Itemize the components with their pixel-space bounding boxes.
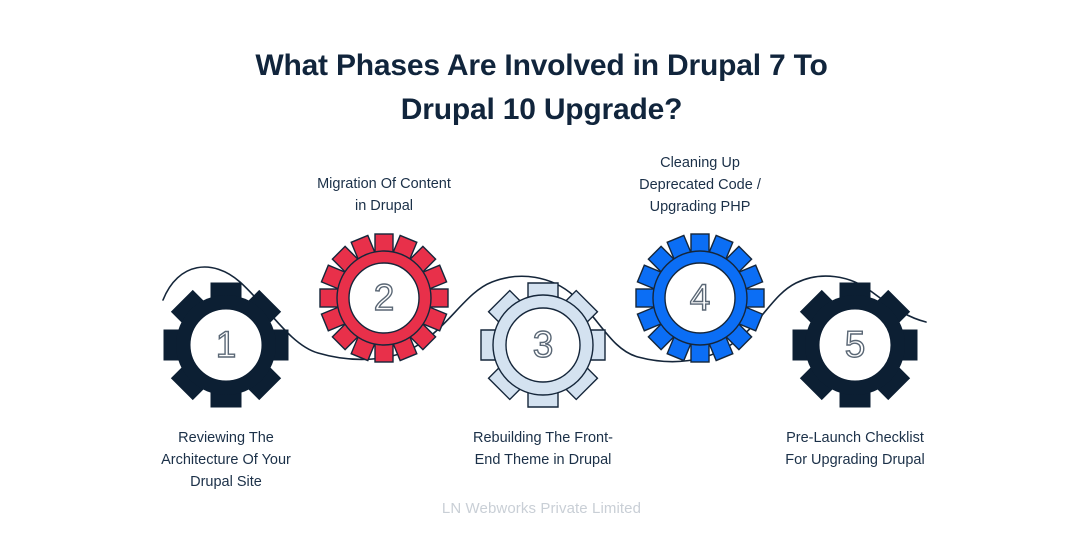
gear-2-number: 2 [319, 233, 449, 363]
infographic-canvas: What Phases Are Involved in Drupal 7 To … [0, 0, 1083, 543]
gear-4-number: 4 [635, 233, 765, 363]
page-title-line-2: Drupal 10 Upgrade? [0, 88, 1083, 132]
page-title: What Phases Are Involved in Drupal 7 To … [0, 44, 1083, 132]
caption-step-1-line-3: Drupal Site [126, 472, 326, 494]
caption-step-2-line-1: Migration Of Content [284, 174, 484, 196]
caption-step-1-line-1: Reviewing The [126, 428, 326, 450]
caption-step-4-line-3: Upgrading PHP [610, 197, 790, 219]
page-title-line-1: What Phases Are Involved in Drupal 7 To [0, 44, 1083, 88]
caption-step-2-line-2: in Drupal [284, 196, 484, 218]
gear-5-number: 5 [791, 281, 919, 409]
caption-step-1-line-2: Architecture Of Your [126, 450, 326, 472]
caption-step-4: Cleaning Up Deprecated Code / Upgrading … [610, 153, 790, 218]
gear-step-3[interactable]: 3 [479, 281, 607, 409]
caption-step-2: Migration Of Content in Drupal [284, 174, 484, 218]
caption-step-3-line-2: End Theme in Drupal [433, 450, 653, 472]
caption-step-4-line-1: Cleaning Up [610, 153, 790, 175]
gear-step-4[interactable]: 4 [635, 233, 765, 363]
gear-1-number: 1 [162, 281, 290, 409]
caption-step-4-line-2: Deprecated Code / [610, 175, 790, 197]
caption-step-1: Reviewing The Architecture Of Your Drupa… [126, 428, 326, 493]
caption-step-3-line-1: Rebuilding The Front- [433, 428, 653, 450]
caption-step-5: Pre-Launch Checklist For Upgrading Drupa… [755, 428, 955, 472]
caption-step-5-line-1: Pre-Launch Checklist [755, 428, 955, 450]
gear-step-1[interactable]: 1 [162, 281, 290, 409]
gear-3-number: 3 [479, 281, 607, 409]
gear-step-5[interactable]: 5 [791, 281, 919, 409]
caption-step-5-line-2: For Upgrading Drupal [755, 450, 955, 472]
gear-step-2[interactable]: 2 [319, 233, 449, 363]
footer-attribution: LN Webworks Private Limited [0, 500, 1083, 517]
caption-step-3: Rebuilding The Front- End Theme in Drupa… [433, 428, 653, 472]
